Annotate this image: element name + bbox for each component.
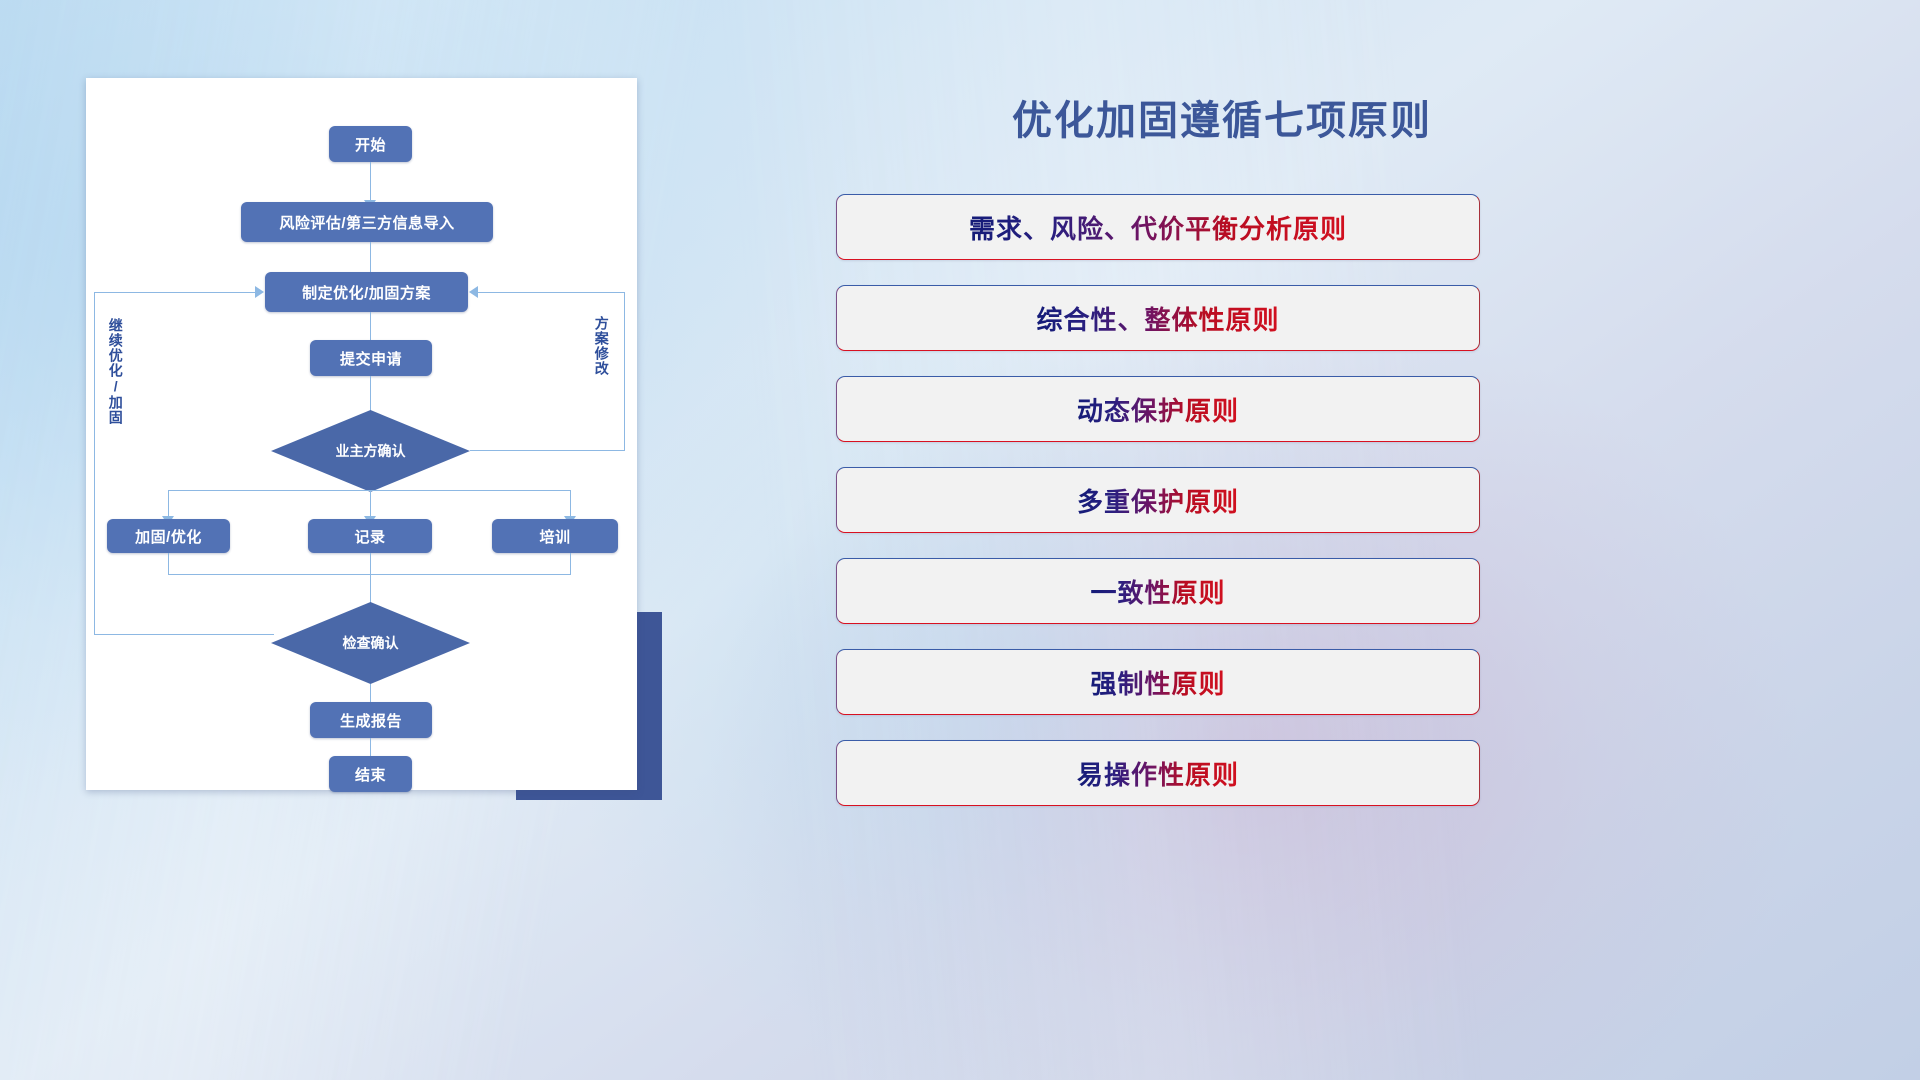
flow-node-end-label: 结束	[355, 764, 386, 785]
flow-node-record[interactable]: 记录	[308, 519, 432, 553]
flow-node-plan-label: 制定优化/加固方案	[302, 282, 431, 303]
flow-decision-owner-confirm[interactable]: 业主方确认	[271, 410, 470, 492]
connector-training-down	[570, 553, 571, 575]
connector-inspect-to-left-loop	[94, 634, 274, 635]
flow-node-reinforce[interactable]: 加固/优化	[107, 519, 230, 553]
flow-edge-label-continue-optimize: 继续优化/加固	[108, 318, 123, 425]
flow-node-end[interactable]: 结束	[329, 756, 412, 792]
principle-card-2[interactable]: 综合性、整体性原则	[836, 285, 1480, 351]
arrow-left-to-plan	[255, 286, 264, 298]
principle-card-5-label: 一致性原则	[1090, 573, 1225, 610]
principle-card-3-label: 动态保护原则	[1077, 391, 1239, 428]
flow-node-submit-label: 提交申请	[340, 348, 402, 369]
principle-card-2-label: 综合性、整体性原则	[1036, 300, 1279, 337]
principle-card-7-label: 易操作性原则	[1077, 755, 1239, 792]
flow-node-record-label: 记录	[354, 526, 385, 547]
flow-node-training-label: 培训	[539, 526, 570, 547]
flow-node-plan[interactable]: 制定优化/加固方案	[265, 272, 468, 312]
principle-card-4-label: 多重保护原则	[1077, 482, 1239, 519]
principle-card-1-label: 需求、风险、代价平衡分析原则	[969, 209, 1347, 246]
flow-decision-inspect-confirm[interactable]: 检查确认	[271, 602, 470, 684]
principle-card-5[interactable]: 一致性原则	[836, 558, 1480, 624]
flow-node-start[interactable]: 开始	[329, 126, 412, 162]
flow-decision-owner-confirm-label: 业主方确认	[336, 441, 406, 461]
flow-node-submit[interactable]: 提交申请	[310, 340, 432, 376]
principle-card-4[interactable]: 多重保护原则	[836, 467, 1480, 533]
connector-left-loop-to-plan	[94, 292, 257, 293]
connector-merge-bus	[168, 574, 571, 575]
page-title: 优化加固遵循七项原则	[942, 88, 1502, 146]
connector-owner-to-right	[470, 450, 625, 451]
flow-node-generate-report[interactable]: 生成报告	[310, 702, 432, 738]
arrow-right-to-plan	[469, 286, 478, 298]
connector-left-loop-vertical	[94, 292, 95, 634]
flowchart-panel: 开始 风险评估/第三方信息导入 制定优化/加固方案 提交申请 业主方确认 方案修…	[86, 78, 637, 790]
flow-node-risk-assessment[interactable]: 风险评估/第三方信息导入	[241, 202, 493, 242]
principle-card-6[interactable]: 强制性原则	[836, 649, 1480, 715]
connector-reinforce-down	[168, 553, 169, 575]
flow-node-risk-assessment-label: 风险评估/第三方信息导入	[279, 212, 454, 233]
flow-node-start-label: 开始	[355, 134, 386, 155]
principles-pane: 优化加固遵循七项原则 需求、风险、代价平衡分析原则 综合性、整体性原则 动态保护…	[830, 0, 1920, 1080]
connector-right-to-plan	[478, 292, 625, 293]
flow-node-reinforce-label: 加固/优化	[135, 526, 202, 547]
flow-node-training[interactable]: 培训	[492, 519, 618, 553]
connector-right-up	[624, 292, 625, 451]
principle-card-7[interactable]: 易操作性原则	[836, 740, 1480, 806]
principle-card-1[interactable]: 需求、风险、代价平衡分析原则	[836, 194, 1480, 260]
flow-node-generate-report-label: 生成报告	[340, 710, 402, 731]
principle-card-6-label: 强制性原则	[1090, 664, 1225, 701]
flow-decision-inspect-confirm-label: 检查确认	[343, 633, 399, 653]
principle-card-3[interactable]: 动态保护原则	[836, 376, 1480, 442]
flow-edge-label-plan-revision: 方案修改	[594, 316, 609, 376]
